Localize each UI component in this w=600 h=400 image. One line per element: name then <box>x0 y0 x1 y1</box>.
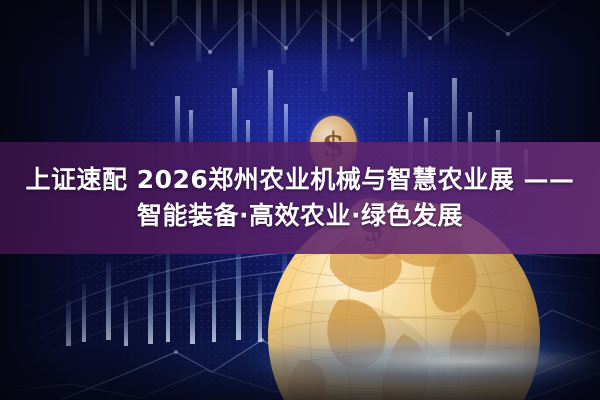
headline-line-2: 智能装备·高效农业·绿色发展 <box>137 201 463 231</box>
headline-block: 上证速配 2026郑州农业机械与智慧农业展 —— 智能装备·高效农业·绿色发展 <box>0 142 600 254</box>
banner-image: $ $ 上证速配 2026郑州农业机械与智慧农业展 —— 智能装备·高效农业·绿… <box>0 0 600 400</box>
arc-ribbon-group <box>0 233 600 392</box>
headline-line-1: 上证速配 2026郑州农业机械与智慧农业展 —— <box>26 165 575 195</box>
trend-line-lower-nodes <box>174 316 454 354</box>
trend-line-lower <box>0 310 600 400</box>
trend-line-upper <box>116 2 556 52</box>
trend-line-upper-nodes <box>150 32 510 54</box>
candlestick-group-upper <box>84 0 464 92</box>
light-ribbon-group <box>470 344 600 400</box>
